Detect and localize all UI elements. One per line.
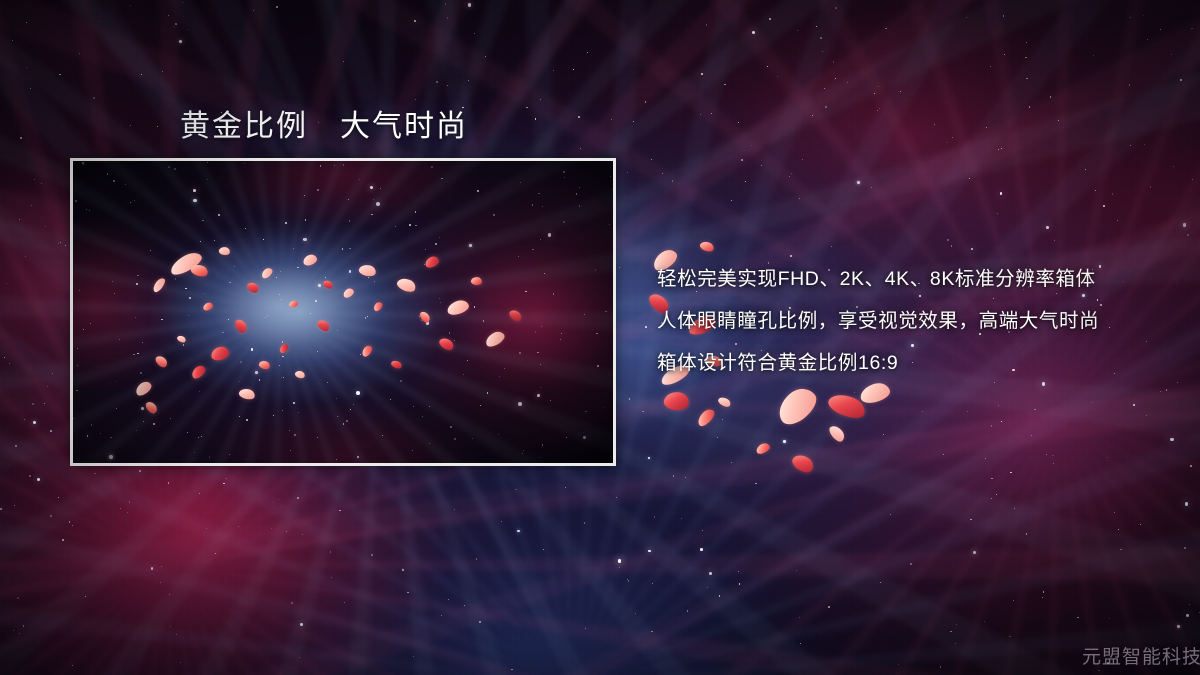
feature-description-block: 轻松完美实现FHD、2K、4K、8K标准分辨率箱体 人体眼睛瞳孔比例，享受视觉效…	[657, 258, 1177, 384]
watermark: 元盟智能科技	[1082, 642, 1200, 669]
slide-canvas: 黄金比例 大气时尚 轻松完美实现FHD、2K、4K、8K标准分辨率箱体 人体眼睛…	[0, 0, 1200, 675]
description-line-1: 轻松完美实现FHD、2K、4K、8K标准分辨率箱体	[657, 258, 1177, 300]
description-line-2: 人体眼睛瞳孔比例，享受视觉效果，高端大气时尚	[657, 300, 1177, 342]
page-title: 黄金比例 大气时尚	[180, 101, 468, 145]
video-vignette	[73, 161, 613, 463]
video-inner-scene	[73, 161, 613, 463]
video-preview-frame[interactable]	[70, 158, 616, 466]
description-line-3: 箱体设计符合黄金比例16:9	[657, 342, 1177, 384]
